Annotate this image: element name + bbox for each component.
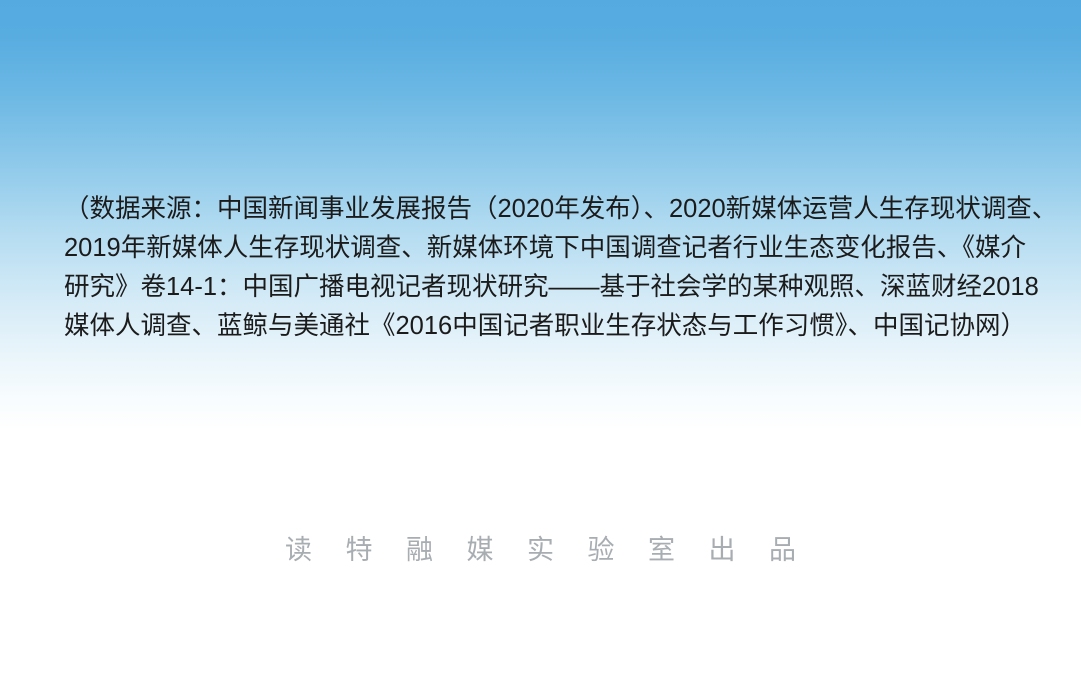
source-note-line-2: 2019年新媒体人生存现状调查、新媒体环境下中国调查记者行业生态变化报告、《媒介 xyxy=(64,229,1024,268)
source-note-line-3: 研究》卷14-1：中国广播电视记者现状研究——基于社会学的某种观照、深蓝财经20… xyxy=(64,268,1024,307)
partner-logo-strip: S HEN Z HEN 深圳发布 深圳特区报 xyxy=(0,419,1081,501)
source-note-line-4: 媒体人调查、蓝鲸与美通社《2016中国记者职业生存状态与工作习惯》、中国记协网） xyxy=(64,307,1024,346)
infographic-footer-page: （数据来源：中国新闻事业发展报告（2020年发布）、2020新媒体运营人生存现状… xyxy=(0,0,1081,676)
production-credit: 读 特 融 媒 实 验 室 出 品 xyxy=(0,528,1081,567)
source-note-line-1: （数据来源：中国新闻事业发展报告（2020年发布）、2020新媒体运营人生存现状… xyxy=(64,190,1024,229)
data-source-note: （数据来源：中国新闻事业发展报告（2020年发布）、2020新媒体运营人生存现状… xyxy=(64,190,1024,346)
